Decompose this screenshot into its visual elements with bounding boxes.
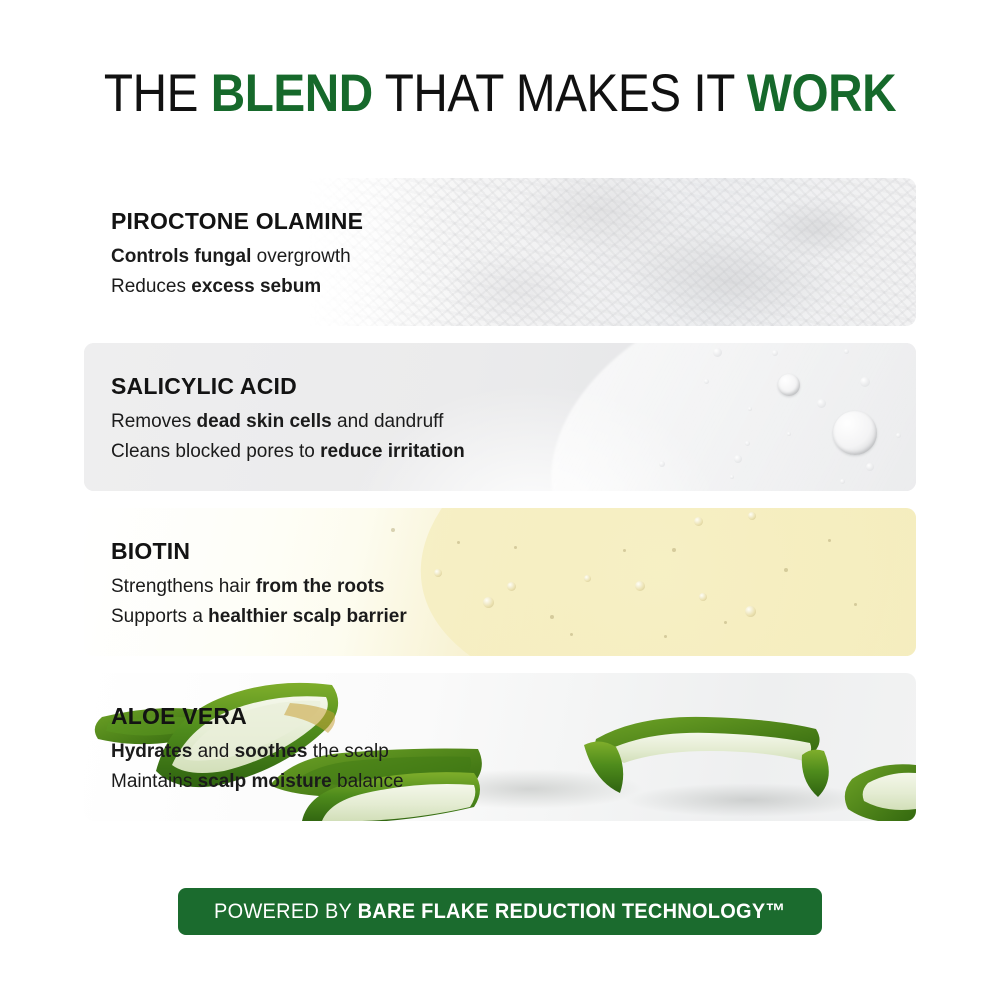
serum-bubble-1 xyxy=(483,597,494,608)
card-copy: ALOE VERA Hydrates and soothes the scalp… xyxy=(111,703,404,797)
serum-bubble-2 xyxy=(507,582,516,591)
gel-bubble-large xyxy=(833,411,877,455)
serum-dot-8 xyxy=(784,568,788,572)
card-line-1: Hydrates and soothes the scalp xyxy=(111,737,404,767)
card-line-1-bold: dead skin cells xyxy=(197,411,332,432)
banner-prefix: POWERED BY xyxy=(214,900,358,923)
page-title: THE BLEND THAT MAKES IT WORK xyxy=(50,66,950,122)
gel-bubble-small-6 xyxy=(817,399,826,408)
gel-bubble-small-2 xyxy=(772,350,778,356)
aloe-slice-right-tip xyxy=(802,750,829,797)
serum-dot-1 xyxy=(391,528,395,532)
serum-dot-4 xyxy=(550,615,554,619)
card-line-1: Removes dead skin cells and dandruff xyxy=(111,407,465,437)
gel-bubble-small-13 xyxy=(659,461,665,467)
card-copy: SALICYLIC ACID Removes dead skin cells a… xyxy=(111,373,465,467)
card-copy: PIROCTONE OLAMINE Controls fungal overgr… xyxy=(111,208,363,302)
gel-bubble-small-11 xyxy=(896,433,901,438)
card-line-1-rest: overgrowth xyxy=(251,246,350,267)
gel-bubble-small-8 xyxy=(734,455,742,463)
card-line-2-rest: balance xyxy=(332,771,404,792)
banner-brand: BARE FLAKE REDUCTION TECHNOLOGY™ xyxy=(358,900,786,923)
card-heading-piroctone-olamine: PIROCTONE OLAMINE xyxy=(111,208,363,235)
ingredient-card-piroctone-olamine: PIROCTONE OLAMINE Controls fungal overgr… xyxy=(84,178,916,326)
card-line-1-plain: Removes xyxy=(111,411,197,432)
serum-bubble-4 xyxy=(635,581,645,591)
ingredient-card-biotin: BIOTIN Strengthens hair from the roots S… xyxy=(84,508,916,656)
ingredient-card-list: PIROCTONE OLAMINE Controls fungal overgr… xyxy=(84,178,916,838)
card-line-2-bold: healthier scalp barrier xyxy=(208,606,407,627)
serum-bubble-3 xyxy=(434,569,442,577)
gel-bubble-small-10 xyxy=(866,463,874,471)
gel-bubble-small-1 xyxy=(713,348,722,357)
card-line-1-rest: the scalp xyxy=(307,741,388,762)
card-line-2: Maintains scalp moisture balance xyxy=(111,767,404,797)
gel-bubble-small-5 xyxy=(860,377,870,387)
card-line-1-rest: and dandruff xyxy=(332,411,444,432)
ingredient-card-aloe-vera: ALOE VERA Hydrates and soothes the scalp… xyxy=(84,673,916,821)
title-highlight-work: WORK xyxy=(747,64,896,123)
serum-dot-7 xyxy=(664,635,667,638)
serum-dot-3 xyxy=(514,546,517,549)
card-line-1-bold: from the roots xyxy=(256,576,385,597)
card-line-2: Supports a healthier scalp barrier xyxy=(111,602,407,632)
powered-by-banner: POWERED BY BARE FLAKE REDUCTION TECHNOLO… xyxy=(178,888,822,935)
serum-bubble-5 xyxy=(694,517,703,526)
card-heading-salicylic-acid: SALICYLIC ACID xyxy=(111,373,465,400)
card-line-2: Cleans blocked pores to reduce irritatio… xyxy=(111,437,465,467)
gel-bubble-small-12 xyxy=(748,407,752,411)
serum-dot-2 xyxy=(457,541,460,544)
serum-dot-5 xyxy=(623,549,626,552)
serum-bubble-9 xyxy=(584,575,591,582)
ingredient-card-salicylic-acid: SALICYLIC ACID Removes dead skin cells a… xyxy=(84,343,916,491)
gel-bubble-small-3 xyxy=(844,349,849,354)
card-line-1-mid: and xyxy=(192,741,234,762)
card-line-2-plain: Reduces xyxy=(111,276,191,297)
card-line-1-bold: Hydrates xyxy=(111,741,192,762)
card-line-1: Strengthens hair from the roots xyxy=(111,572,407,602)
serum-dot-12 xyxy=(724,621,727,624)
gel-bubble-small-4 xyxy=(704,379,709,384)
card-line-2: Reduces excess sebum xyxy=(111,272,363,302)
serum-dot-9 xyxy=(828,539,831,542)
serum-bubble-6 xyxy=(748,512,756,520)
gel-bubble-medium xyxy=(778,374,800,396)
card-copy: BIOTIN Strengthens hair from the roots S… xyxy=(111,538,407,632)
title-highlight-blend: BLEND xyxy=(211,64,373,123)
card-line-1-plain: Strengthens hair xyxy=(111,576,256,597)
card-line-2-plain: Maintains xyxy=(111,771,198,792)
card-heading-biotin: BIOTIN xyxy=(111,538,407,565)
serum-dot-10 xyxy=(854,603,857,606)
card-line-2-plain: Supports a xyxy=(111,606,208,627)
card-line-2-bold: excess sebum xyxy=(191,276,321,297)
serum-dot-6 xyxy=(672,548,676,552)
gel-bubble-small-7 xyxy=(745,441,750,446)
card-line-1: Controls fungal overgrowth xyxy=(111,242,363,272)
serum-bubble-7 xyxy=(745,606,756,617)
card-heading-aloe-vera: ALOE VERA xyxy=(111,703,404,730)
card-line-2-bold: reduce irritation xyxy=(320,441,465,462)
serum-arc-edge xyxy=(393,508,916,656)
card-line-1-bold: Controls fungal xyxy=(111,246,251,267)
serum-dot-11 xyxy=(570,633,573,636)
serum-bubble-8 xyxy=(699,593,707,601)
card-line-2-bold: scalp moisture xyxy=(198,771,332,792)
gel-bubble-small-15 xyxy=(840,479,845,484)
gel-bubble-small-9 xyxy=(787,432,791,436)
title-part-1: THE xyxy=(104,64,211,123)
card-line-2-plain: Cleans blocked pores to xyxy=(111,441,320,462)
title-part-2: THAT MAKES IT xyxy=(373,64,747,123)
banner-text: POWERED BY BARE FLAKE REDUCTION TECHNOLO… xyxy=(214,900,786,924)
card-line-1-bold-2: soothes xyxy=(235,741,308,762)
gel-bubble-small-14 xyxy=(730,475,734,479)
